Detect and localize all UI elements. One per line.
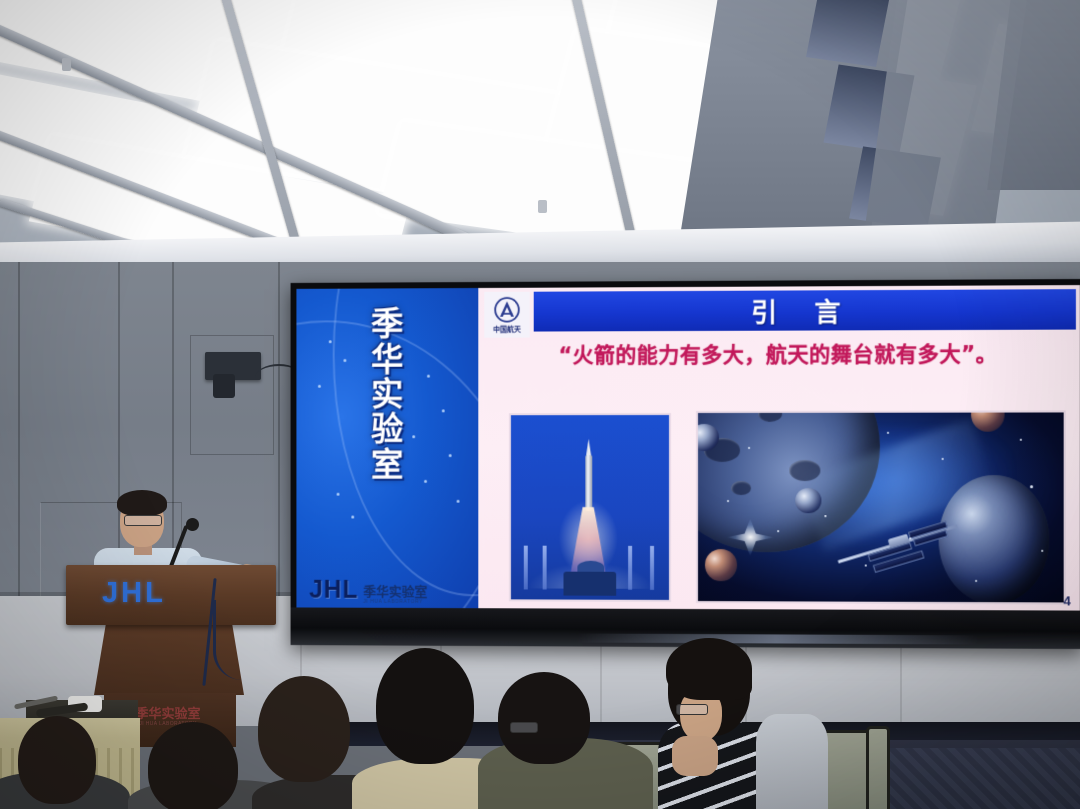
slide-vertical-title: 季 华 实 验 室 [296,307,478,482]
slide-title-bar: 引 言 [534,289,1076,331]
slide-title: 引 言 [751,292,855,330]
podium-front-face: JHL [66,565,276,625]
vertical-title-char-5: 室 [371,448,403,482]
sprinkler-icon [538,200,547,213]
attendee-center-right-head [498,672,590,764]
slide-left-branding-panel: 季 华 实 验 室 JHL 季华实验室 JI HUA LABORATORY [296,288,478,608]
projection-screen[interactable]: 季 华 实 验 室 JHL 季华实验室 JI HUA LABORATORY [291,279,1080,649]
slide-surface: 季 华 实 验 室 JHL 季华实验室 JI HUA LABORATORY [296,285,1080,611]
eyeglasses-icon [124,515,162,526]
podium-jhl-wordmark: JHL [102,577,166,610]
attendee-front-left-head [18,716,96,804]
attendee-center-right-glasses-icon [510,722,538,733]
attendee-right-glasses-icon [676,704,708,715]
slide-jhl-logo: JHL 季华实验室 JI HUA LABORATORY [309,576,427,605]
microphone-icon [186,518,199,531]
jhl-logo-en: JI HUA LABORATORY [363,599,427,605]
space-station [836,515,961,576]
attendee-center-left-head [258,676,350,782]
slide-content-panel: 中国航天 引 言 “火箭的能力有多大，航天的舞台就有多大”。 [478,285,1080,611]
vertical-title-char-4: 验 [371,413,403,447]
slide-quote: “火箭的能力有多大，航天的舞台就有多大”。 [478,338,1080,370]
space-artwork-image [696,410,1066,604]
vertical-title-char-1: 季 [371,308,403,342]
casc-logo-label: 中国航天 [493,324,521,334]
slide-page-number: 4 [1063,593,1070,608]
vertical-title-char-3: 实 [371,378,403,412]
rocket-launch-image [509,413,671,602]
jhl-wordmark: JHL [309,576,358,605]
conference-room-photo: 季 华 实 验 室 JHL 季华实验室 JI HUA LABORATORY [0,0,1080,809]
sprinkler-icon [62,58,71,71]
chair[interactable] [866,726,890,809]
vertical-title-char-2: 华 [371,343,403,377]
attendee-left-head [148,722,238,809]
casc-logo: 中国航天 [484,292,530,338]
wall-camera-icon [205,352,261,380]
attendee-center-head [376,648,474,764]
attendee-right-sleeve [756,714,828,809]
attendee-right-hair-front [666,638,752,700]
jhl-logo-cn: 季华实验室 [363,586,427,599]
attendee-right-hand [672,736,718,776]
casc-arrow-icon [493,295,521,323]
speaker-hair [117,490,167,516]
